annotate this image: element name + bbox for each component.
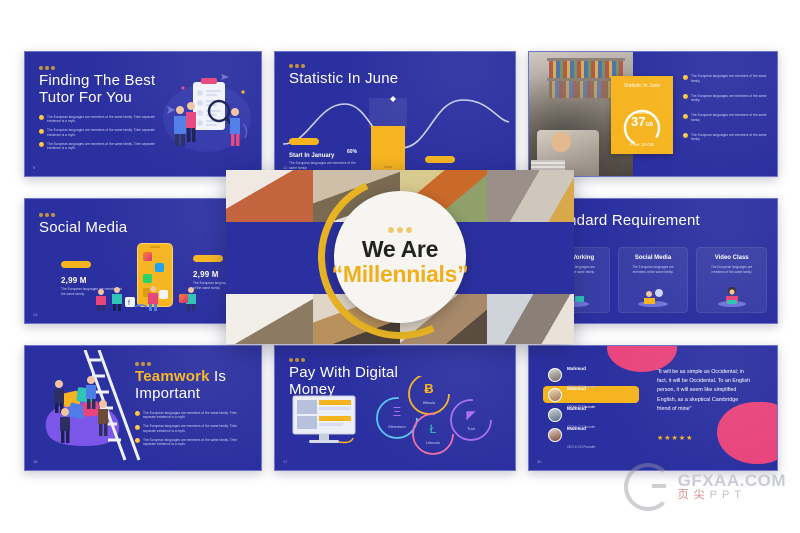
statistic-chart: June 60% Start In January The European l… xyxy=(275,92,515,176)
slide-page-number: 17 xyxy=(283,459,287,464)
slide-finding-tutor[interactable]: Finding The Best Tutor For You The Europ… xyxy=(24,51,262,177)
slide-page-number: 9 xyxy=(33,165,35,170)
photo-student-writing xyxy=(226,170,313,222)
person-name: Mahmud xyxy=(567,386,586,391)
slide-statistic-june[interactable]: Statistic In June June 60% Start In Janu… xyxy=(274,51,516,177)
bullet-icon xyxy=(683,75,688,80)
presentation-mockup: Finding The Best Tutor For You The Europ… xyxy=(0,0,800,533)
tutor-illustration xyxy=(159,66,255,162)
svg-text:Ł: Ł xyxy=(430,422,437,436)
slide-page-number: 13 xyxy=(33,312,37,317)
bullet-icon xyxy=(135,438,140,443)
card-heading: Social Media xyxy=(619,255,688,261)
watermark-g-icon xyxy=(624,463,672,511)
slide-tutor-title: Finding The Best Tutor For You xyxy=(39,73,157,107)
stat-block-january: Start In January The European languages … xyxy=(289,132,361,171)
decor-dots xyxy=(289,358,398,362)
svg-text:Ethereum: Ethereum xyxy=(388,424,406,429)
list-item: The European languages are members of th… xyxy=(683,113,769,123)
stat-value: 2,99 M xyxy=(61,276,123,285)
photo-classroom xyxy=(487,294,574,344)
slide-social-title: Social Media xyxy=(39,220,127,237)
list-item[interactable]: Mahmud CEO & CO Founder xyxy=(543,426,639,443)
bullet-icon xyxy=(39,142,44,147)
slide-page-number: 16 xyxy=(33,459,37,464)
twitter-icon xyxy=(155,263,164,272)
svg-text:Litecoin: Litecoin xyxy=(426,440,440,445)
decor-dots xyxy=(388,227,412,233)
badge-pill xyxy=(193,255,223,262)
person-name: Mahmud xyxy=(567,366,586,371)
decor-dots xyxy=(39,213,127,217)
hero-line-1: We Are xyxy=(362,238,438,261)
svg-text:Tron: Tron xyxy=(467,426,475,431)
watermark-domain: GFXAA.COM xyxy=(678,472,786,490)
slide-pay-digital-money[interactable]: Pay With Digital Money Ξ Ethereum Ƀ Bitc… xyxy=(274,345,516,471)
slide-gauge[interactable]: Statistic In June Statistic 37GB Free 15… xyxy=(528,51,778,177)
svg-text:Bitcoin: Bitcoin xyxy=(423,400,435,405)
rating-stars: ★★★★★ xyxy=(657,434,693,442)
monitor-illustration xyxy=(291,394,363,446)
person-name: Mahmud xyxy=(567,426,586,431)
decor-dots xyxy=(135,362,247,366)
slide-teamwork-content: Teamwork Is Important The European langu… xyxy=(135,362,247,451)
list-item: The European languages are members of th… xyxy=(683,133,769,143)
crypto-circles: Ξ Ethereum Ƀ Bitcoin Ł Litecoin ◤ Tron xyxy=(367,376,501,462)
bullet-icon xyxy=(39,115,44,120)
bullet-icon xyxy=(39,129,44,134)
slide-tutor-content: Finding The Best Tutor For You The Europ… xyxy=(39,66,157,155)
avatar xyxy=(548,368,562,382)
gauge-card-title: Statistic In June xyxy=(611,83,673,89)
badge-pill xyxy=(289,138,319,145)
bullet-icon xyxy=(135,411,140,416)
stat-heading: Start In January xyxy=(289,153,361,159)
watermark-text: GFXAA.COM 页尖PPT xyxy=(678,472,786,501)
list-item: The European languages are members of th… xyxy=(135,424,247,434)
bar-label: June xyxy=(371,164,405,169)
bullet-icon xyxy=(683,133,688,138)
slide-statistic-header: Statistic In June xyxy=(289,64,398,88)
people-illustration: f xyxy=(91,285,211,311)
avatar xyxy=(548,428,562,442)
list-item: The European languages are members of th… xyxy=(39,128,157,138)
testimonial-quote: “It will be as simple as Occidental; in … xyxy=(657,368,753,414)
svg-text:Ξ: Ξ xyxy=(393,404,401,419)
svg-text:Ƀ: Ƀ xyxy=(424,381,433,396)
decor-dots xyxy=(39,66,157,70)
badge-pill xyxy=(425,156,455,163)
photo-open-book xyxy=(226,294,313,344)
svg-text:f: f xyxy=(128,300,130,307)
avatar xyxy=(548,408,562,422)
list-item: The European languages are members of th… xyxy=(135,438,247,448)
gauge-bullets: The European languages are members of th… xyxy=(683,74,769,146)
bullet-icon xyxy=(683,114,688,119)
card-social-media[interactable]: Social Media The European languages are … xyxy=(618,247,689,313)
bullet-icon xyxy=(135,425,140,430)
video-class-icon xyxy=(715,285,749,307)
gauge-card: Statistic In June Statistic 37GB Free 15… xyxy=(611,76,673,154)
card-video-class[interactable]: Video Class The European languages are m… xyxy=(696,247,767,313)
social-media-icon xyxy=(636,287,670,307)
person-role: CEO & CO Founder xyxy=(567,445,595,449)
list-item: The European languages are members of th… xyxy=(683,74,769,84)
gauge-caption: Statistic xyxy=(611,111,673,115)
slide-teamwork[interactable]: Teamwork Is Important The European langu… xyxy=(24,345,262,471)
photo-library-shelves xyxy=(487,170,574,222)
card-text: The European languages are members of th… xyxy=(705,265,758,274)
gauge-card-footer: Free 15 GB xyxy=(611,142,673,147)
bar-ghost xyxy=(369,98,407,128)
list-item: The European languages are members of th… xyxy=(39,142,157,152)
testimonial-person-list: Mahmud CEO & CO Founder Mahmud CEO & CO … xyxy=(543,366,639,446)
avatar xyxy=(548,388,562,402)
center-hero-band: We Are “Millennials” xyxy=(226,170,574,344)
slide-teamwork-title: Teamwork Is Important xyxy=(135,369,247,403)
slide-social-header: Social Media xyxy=(39,213,127,237)
slide-testimonial[interactable]: Mahmud CEO & CO Founder Mahmud CEO & CO … xyxy=(528,345,778,471)
card-heading: Video Class xyxy=(697,255,766,261)
svg-text:◤: ◤ xyxy=(466,408,476,422)
list-item: The European languages are members of th… xyxy=(39,115,157,125)
hero-circle: We Are “Millennials” xyxy=(334,191,466,323)
watermark: GFXAA.COM 页尖PPT xyxy=(624,463,786,511)
decor-dots xyxy=(289,64,398,68)
slide-page-number: 30 xyxy=(537,459,541,464)
bar-june: June xyxy=(371,126,405,172)
list-item: The European languages are members of th… xyxy=(135,411,247,421)
slide-tutor-bullets: The European languages are members of th… xyxy=(39,115,157,152)
bullet-icon xyxy=(683,94,688,99)
card-text: The European languages are members of th… xyxy=(627,265,680,274)
slide-teamwork-bullets: The European languages are members of th… xyxy=(135,411,247,448)
watermark-subtitle: 页尖PPT xyxy=(678,490,786,502)
hero-line-2: “Millennials” xyxy=(332,261,469,287)
list-item: The European languages are members of th… xyxy=(683,94,769,104)
person-name: Mahmud xyxy=(567,406,586,411)
instagram-icon xyxy=(143,252,152,261)
whatsapp-icon xyxy=(143,274,152,283)
badge-pill xyxy=(61,261,91,268)
